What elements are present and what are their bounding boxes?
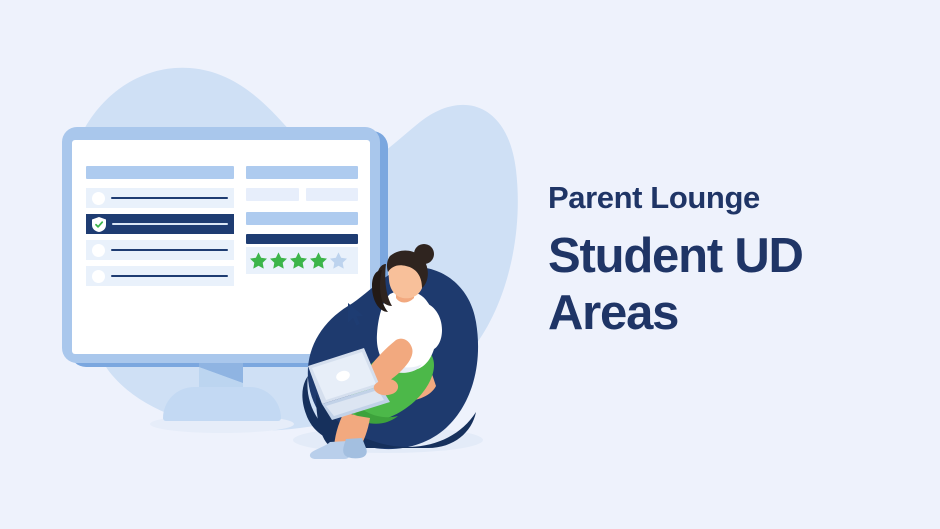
right-column-box-pair: [246, 188, 358, 201]
text-block: Parent Lounge Student UD Areas: [548, 181, 918, 342]
eyebrow-title: Parent Lounge: [548, 181, 918, 215]
right-column-header-bar: [246, 166, 358, 179]
page-title: Student UD Areas: [548, 228, 918, 342]
right-column-subheader-bar: [246, 212, 358, 225]
illustration-banner: Parent Lounge Student UD Areas: [0, 0, 940, 529]
shoe-2: [343, 438, 367, 458]
radio-dot-icon: [92, 192, 105, 205]
headline-line-2: Areas: [548, 285, 918, 342]
list-item-line: [111, 249, 228, 251]
monitor-base: [163, 387, 281, 421]
list-item-line: [111, 197, 228, 199]
list-item-selected[interactable]: [86, 214, 234, 234]
hair-bun: [414, 244, 434, 264]
placeholder-box: [306, 188, 359, 201]
person-illustration: [286, 236, 496, 466]
radio-dot-icon: [92, 244, 105, 257]
radio-dot-icon: [92, 270, 105, 283]
monitor-neck: [199, 363, 243, 390]
list-item[interactable]: [86, 266, 234, 286]
star-icon-filled[interactable]: [249, 251, 268, 270]
headline-line-1: Student UD: [548, 228, 918, 285]
placeholder-box: [246, 188, 299, 201]
left-column-header-bar: [86, 166, 234, 179]
list-item-line: [112, 223, 228, 225]
list-item[interactable]: [86, 188, 234, 208]
screen-left-column: [86, 166, 234, 354]
list-item[interactable]: [86, 240, 234, 260]
mouse-cursor-icon: [347, 302, 367, 328]
check-circle-icon: [92, 217, 106, 232]
list-item-line: [111, 275, 228, 277]
